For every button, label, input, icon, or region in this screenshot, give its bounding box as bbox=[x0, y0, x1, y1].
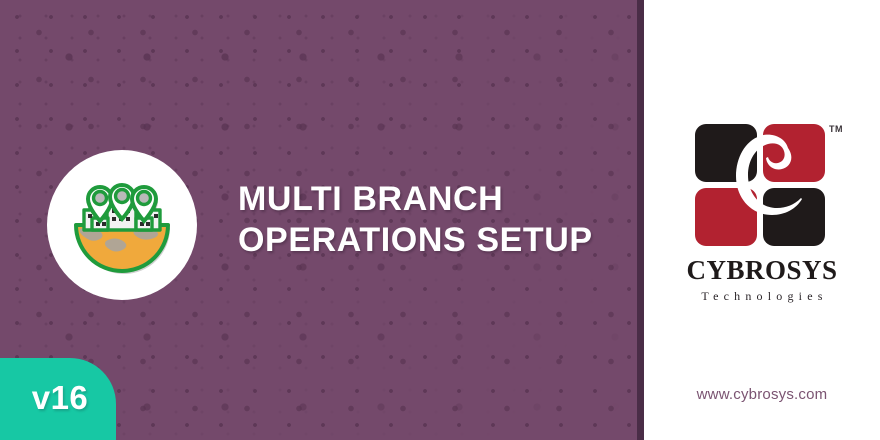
website-url: www.cybrosys.com bbox=[644, 386, 880, 403]
title-line-1: MULTI BRANCH bbox=[238, 179, 637, 220]
brand-logo: TM CYBROSYS Technologies bbox=[644, 118, 880, 302]
version-badge-label: v16 bbox=[28, 379, 89, 419]
feature-icon-badge bbox=[47, 150, 197, 300]
title-line-2: OPERATIONS SETUP bbox=[238, 220, 637, 261]
left-purple-panel: MULTI BRANCH OPERATIONS SETUP v16 bbox=[0, 0, 637, 440]
brand-name: CYBROSYS bbox=[686, 257, 837, 284]
version-badge: v16 bbox=[0, 358, 116, 440]
trademark-icon: TM bbox=[829, 124, 843, 134]
multi-branch-globe-icon bbox=[66, 169, 178, 281]
brand-subtitle: Technologies bbox=[696, 290, 827, 302]
page-title: MULTI BRANCH OPERATIONS SETUP bbox=[238, 179, 637, 261]
panel-divider-stripe bbox=[637, 0, 644, 440]
right-brand-panel: TM CYBROSYS Technologies www.cybrosys.co… bbox=[644, 0, 880, 440]
cybrosys-logo-mark: TM bbox=[687, 118, 837, 253]
promo-banner: MULTI BRANCH OPERATIONS SETUP v16 bbox=[0, 0, 880, 440]
